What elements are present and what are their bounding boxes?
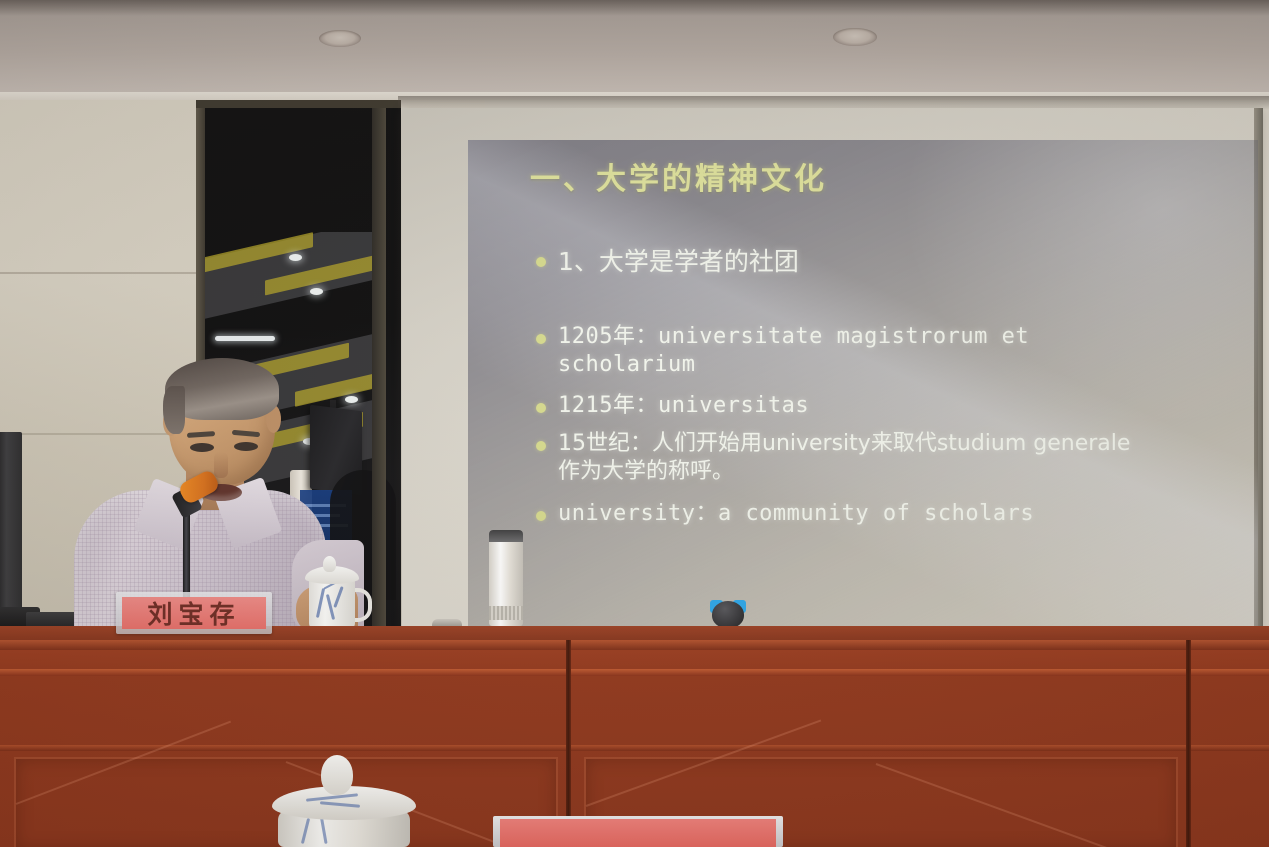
slide-bullet-text: 1205年：universitate magistrorum et schola… [558,323,1146,379]
nameplate-card: 刘宝存 [122,597,266,629]
blue-eared-device [712,601,744,628]
podium-rail [0,640,1269,650]
downlight-icon [319,30,361,47]
slide-bullet: 1215年：universitas [536,392,809,420]
podium-molding [0,745,1269,751]
window-frame [196,100,401,108]
wall-seam [0,272,200,274]
bullet-dot-icon [536,511,546,521]
bullet-dot-icon [536,441,546,451]
slide-bullet: 15世纪：人们开始用university来取代studium generale作… [536,430,1146,486]
podium-molding [0,669,1269,676]
photo-scene: 一、大学的精神文化 1、大学是学者的社团 1205年：universitate … [0,0,1269,847]
projected-slide: 一、大学的精神文化 1、大学是学者的社团 1205年：universitate … [468,140,1258,626]
slide-bullet: 1205年：universitate magistrorum et schola… [536,323,1146,379]
teacup-knob [323,556,336,572]
bullet-dot-icon [536,257,546,267]
podium-seam [1186,640,1191,847]
slide-bullet-text: university：a community of scholars [558,500,1034,528]
bullet-dot-icon [536,403,546,413]
slide-bullet-text: 1215年：universitas [558,392,809,420]
thermos-band [489,606,523,620]
projector-light-wedge [468,140,1258,626]
foreground-teacup-knob [321,755,353,795]
slide-bullet: university：a community of scholars [536,500,1034,528]
speaker-eye [234,442,258,451]
downlight-icon [833,28,877,46]
speaker-nose [214,452,228,478]
slide-bullet-text: 1、大学是学者的社团 [558,246,799,278]
nameplate-text: 刘宝存 [147,595,240,631]
slide-bullet-text: 15世纪：人们开始用university来取代studium generale作… [558,430,1146,486]
porcelain-teacup [309,578,355,630]
ceiling-shadow [0,0,1269,16]
slide-title: 一、大学的精神文化 [530,154,1210,198]
foreground-name-card [500,819,776,847]
window-frame [372,100,386,645]
thermos-cap [489,530,523,542]
bullet-dot-icon [536,334,546,344]
monitor [0,432,22,614]
speaker-eye [190,443,214,452]
slide-bullet: 1、大学是学者的社团 [536,246,799,278]
speaker-hair [163,386,185,434]
